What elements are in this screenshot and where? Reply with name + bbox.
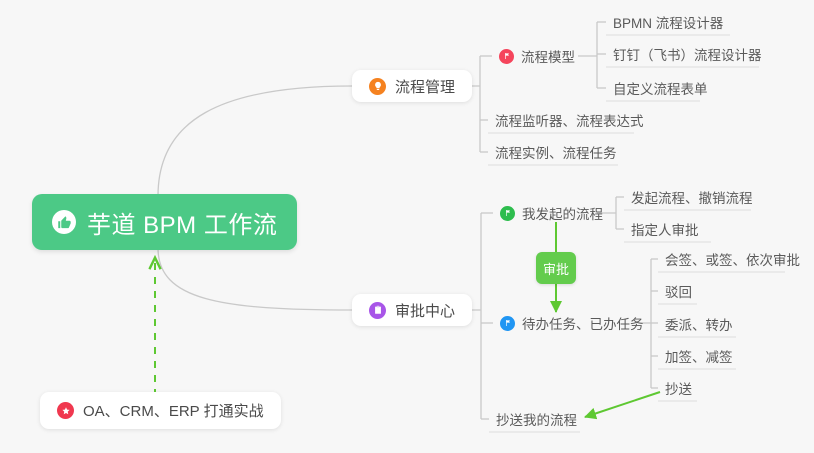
node-bpmn-designer[interactable]: BPMN 流程设计器 [606,11,730,33]
star-icon [57,402,74,419]
flag-icon [500,206,515,221]
node-process-instance[interactable]: 流程实例、流程任务 [488,141,624,163]
branch-label: 审批中心 [395,300,455,321]
wire-root-to-process-management [158,86,352,196]
node-my-initiated[interactable]: 我发起的流程 [493,201,610,225]
node-label: 流程模型 [521,46,575,66]
node-custom-form[interactable]: 自定义流程表单 [606,77,715,99]
arrow-cc-to-cc-to-me [585,392,660,417]
node-label: 自定义流程表单 [613,78,708,98]
node-label: BPMN 流程设计器 [613,12,723,32]
approval-tag[interactable]: 审批 [536,252,576,284]
approval-tag-label: 审批 [543,259,569,278]
node-cc-to-me[interactable]: 抄送我的流程 [489,408,584,430]
node-process-listener[interactable]: 流程监听器、流程表达式 [488,109,651,131]
node-assignee-approval[interactable]: 指定人审批 [624,218,706,240]
branch-process-management[interactable]: 流程管理 [352,70,472,102]
node-reject[interactable]: 驳回 [658,280,699,302]
footnote-node[interactable]: OA、CRM、ERP 打通实战 [40,392,281,429]
thumbs-up-icon [52,210,76,234]
footnote-label: OA、CRM、ERP 打通实战 [83,400,264,421]
node-label: 会签、或签、依次审批 [665,249,800,269]
node-label: 发起流程、撤销流程 [631,187,753,207]
root-label: 芋道 BPM 工作流 [87,205,277,240]
node-label: 抄送我的流程 [496,409,577,429]
node-dingtalk-designer[interactable]: 钉钉（飞书）流程设计器 [606,43,769,65]
node-label: 指定人审批 [631,219,699,239]
mindmap-canvas: 芋道 BPM 工作流 流程管理 流程模型 BPMN 流程设计器 钉钉（飞书）流程… [0,0,814,453]
wire-root-to-approval-center [158,248,352,310]
node-label: 流程实例、流程任务 [495,142,617,162]
node-todo-done-tasks[interactable]: 待办任务、已办任务 [493,311,651,335]
node-process-model[interactable]: 流程模型 [492,44,582,68]
clipboard-icon [369,302,386,319]
node-label: 钉钉（飞书）流程设计器 [613,44,762,64]
node-label: 委派、转办 [665,314,733,334]
node-add-remove-sign[interactable]: 加签、减签 [658,345,740,367]
branch-label: 流程管理 [395,76,455,97]
flag-icon [499,49,514,64]
node-label: 抄送 [665,378,692,398]
node-label: 待办任务、已办任务 [522,313,644,333]
node-delegate-transfer[interactable]: 委派、转办 [658,313,740,335]
branch-approval-center[interactable]: 审批中心 [352,294,472,326]
node-label: 加签、减签 [665,346,733,366]
flag-icon [500,316,515,331]
root-node[interactable]: 芋道 BPM 工作流 [32,194,297,250]
node-label: 驳回 [665,281,692,301]
node-label: 我发起的流程 [522,203,603,223]
lightbulb-icon [369,78,386,95]
node-label: 流程监听器、流程表达式 [495,110,644,130]
node-cc[interactable]: 抄送 [658,377,699,399]
node-start-cancel-process[interactable]: 发起流程、撤销流程 [624,186,760,208]
node-countersign[interactable]: 会签、或签、依次审批 [658,248,807,270]
